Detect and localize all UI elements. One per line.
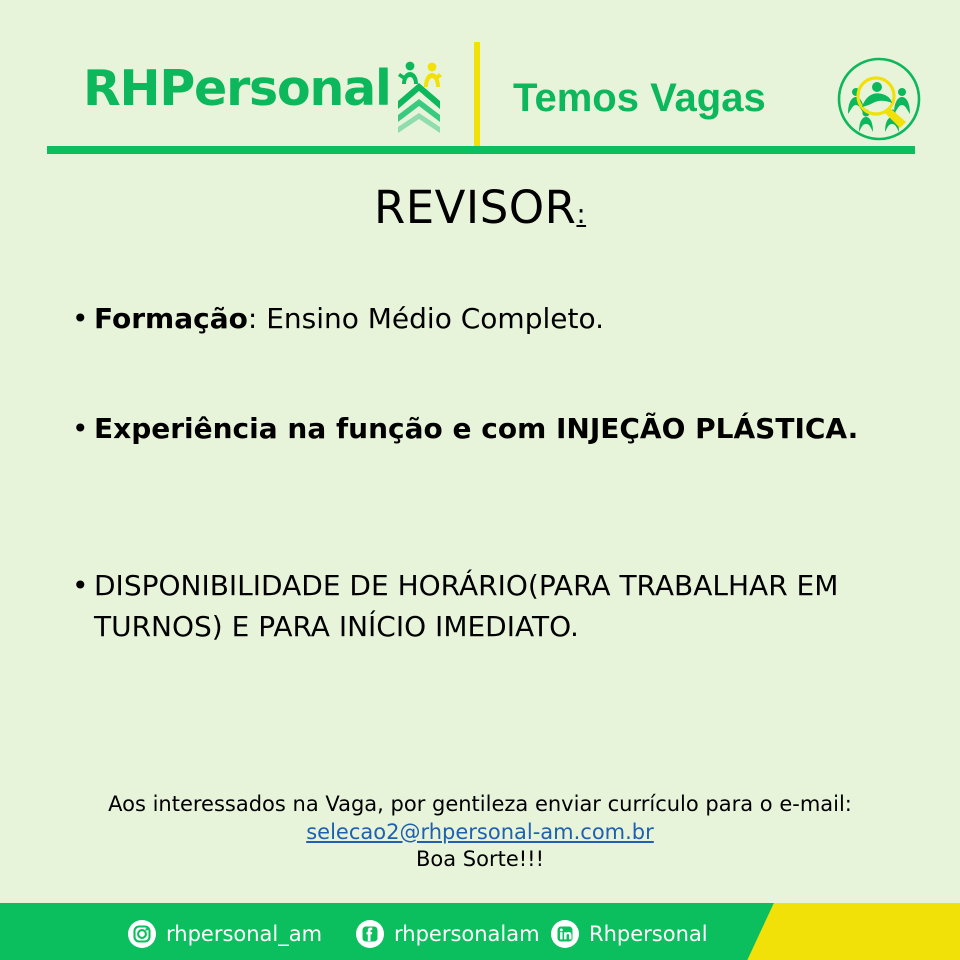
contact-block: Aos interessados na Vaga, por gentileza … xyxy=(100,791,860,874)
header-tagline: Temos Vagas xyxy=(513,78,766,118)
facebook-icon xyxy=(355,919,385,949)
social-handle: rhpersonal_am xyxy=(166,924,322,945)
list-item: • Formação: Ensino Médio Completo. xyxy=(72,299,872,339)
linkedin-icon xyxy=(550,919,580,949)
footer-yellow-accent xyxy=(745,903,960,960)
list-item: • Experiência na função e com INJEÇÃO PL… xyxy=(72,409,902,449)
list-item: • DISPONIBILIDADE DE HORÁRIO(PARA TRABAL… xyxy=(72,566,892,647)
page-title: REVISOR: xyxy=(0,182,960,234)
contact-closing: Boa Sorte!!! xyxy=(100,846,860,874)
rhpersonal-magnifier-people-logo xyxy=(836,56,922,142)
social-link-facebook[interactable]: rhpersonalam xyxy=(355,919,540,949)
brand-wordmark: RHPersonal xyxy=(83,64,391,113)
header-banner: RHPersonal Temos Vagas xyxy=(0,0,960,165)
social-link-instagram[interactable]: rhpersonal_am xyxy=(127,919,322,949)
footer-bar: rhpersonal_am rhpersonalam Rhpersonal xyxy=(0,903,960,960)
requirement-text: Formação: Ensino Médio Completo. xyxy=(94,299,872,339)
requirement-body: Ensino Médio Completo. xyxy=(266,302,604,335)
social-handle: Rhpersonal xyxy=(589,924,708,945)
contact-instruction: Aos interessados na Vaga, por gentileza … xyxy=(108,792,852,816)
rhpersonal-tree-icon xyxy=(393,57,445,135)
instagram-icon xyxy=(127,919,157,949)
social-link-linkedin[interactable]: Rhpersonal xyxy=(550,919,708,949)
bullet-icon: • xyxy=(72,409,94,449)
requirement-text: DISPONIBILIDADE DE HORÁRIO(PARA TRABALHA… xyxy=(94,566,892,647)
contact-email-link[interactable]: selecao2@rhpersonal-am.com.br xyxy=(100,819,860,847)
header-vertical-divider xyxy=(474,42,480,152)
requirement-separator: : xyxy=(248,302,266,335)
bullet-icon: • xyxy=(72,299,94,339)
bullet-icon: • xyxy=(72,566,94,606)
header-horizontal-rule xyxy=(47,146,915,154)
requirement-text: Experiência na função e com INJEÇÃO PLÁS… xyxy=(94,409,902,449)
social-handle: rhpersonalam xyxy=(394,924,540,945)
job-title-text: REVISOR xyxy=(374,181,577,234)
requirement-label: Formação xyxy=(94,302,248,335)
job-title-colon: : xyxy=(576,199,586,230)
